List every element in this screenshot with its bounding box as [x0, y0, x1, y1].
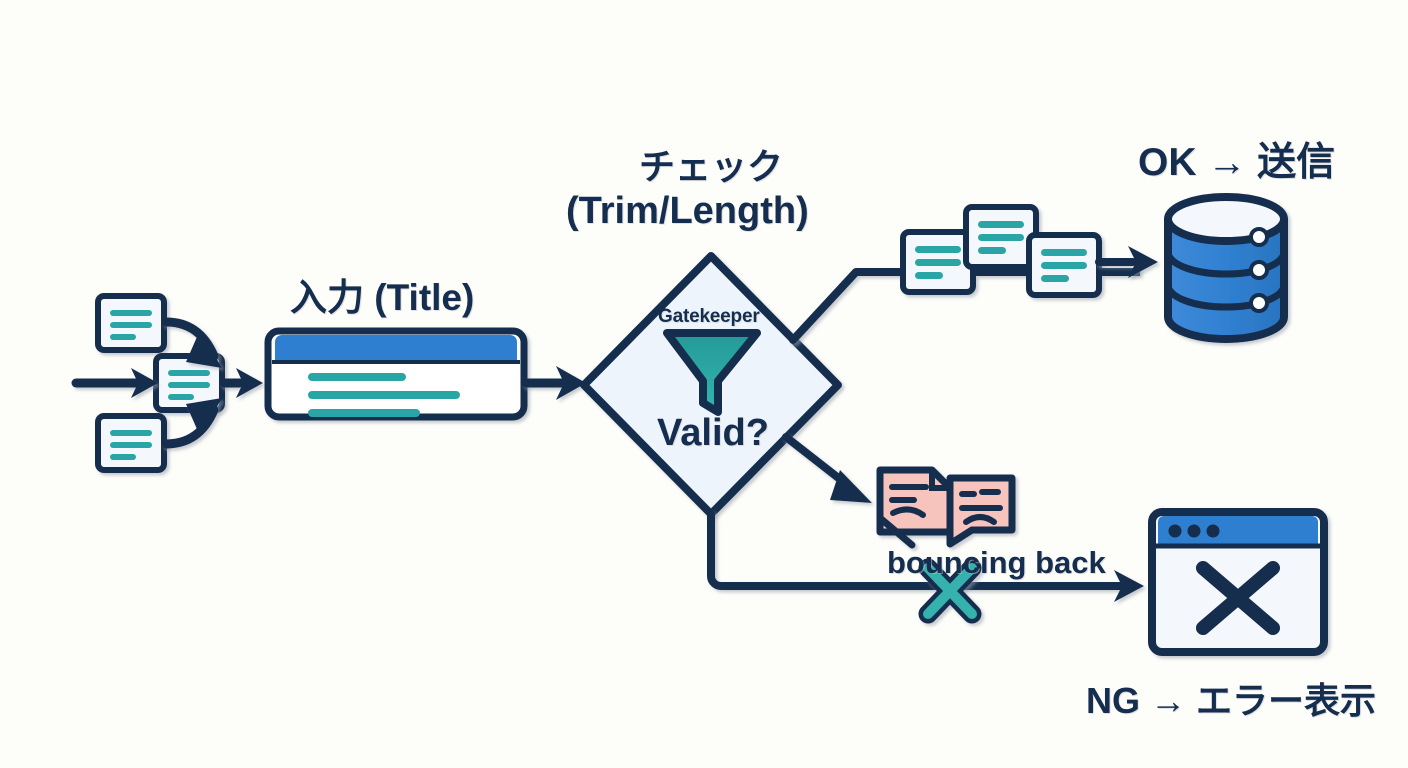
window-dot-2: [1188, 525, 1201, 538]
error-window: [1152, 512, 1324, 652]
input-line-1: [308, 373, 406, 381]
label-input-title: 入力 (Title): [290, 267, 474, 321]
ok-path-record-cards: [900, 207, 1140, 295]
input-line-2: [308, 391, 460, 399]
label-bouncing-back: bouncing back: [887, 545, 1106, 581]
window-dot-3: [1207, 525, 1220, 538]
label-gatekeeper: Gatekeeper: [658, 306, 760, 328]
source-card-bottom: [98, 416, 164, 470]
db-dot-3: [1251, 295, 1267, 311]
edge-decision-to-ok: [793, 272, 900, 340]
label-ok-send: OK → 送信: [1138, 131, 1335, 187]
db-dot-2: [1251, 262, 1267, 278]
rejected-doc-left: [880, 470, 950, 545]
edge-input-to-decision: [526, 366, 586, 400]
window-dot-1: [1169, 525, 1182, 538]
input-line-3: [308, 409, 420, 417]
label-valid: Valid?: [657, 412, 769, 455]
label-check-line2: (Trim/Length): [566, 190, 809, 233]
edge-source-to-input: [224, 368, 263, 398]
edge-left-into-middlecard: [76, 368, 158, 398]
label-check-line1: チェック: [639, 138, 783, 190]
diagram-svg: [0, 0, 1408, 768]
label-ng-error: NG → エラー表示: [1086, 672, 1376, 724]
ok-card-center: [966, 207, 1036, 267]
rejected-document-icons: [880, 470, 1012, 545]
db-dot-1: [1251, 229, 1267, 245]
validation-decision-diamond[interactable]: [584, 256, 838, 514]
database-cylinder: [1168, 197, 1284, 339]
ok-card-right: [1029, 235, 1099, 295]
source-card-top: [98, 296, 164, 350]
edge-decision-to-error-docs: [786, 437, 872, 503]
input-title-box[interactable]: [268, 331, 524, 417]
ok-card-left: [903, 232, 973, 292]
diagram-canvas: 入力 (Title) チェック (Trim/Length) OK → 送信 NG…: [0, 0, 1408, 768]
rejected-doc-right: [950, 478, 1012, 544]
